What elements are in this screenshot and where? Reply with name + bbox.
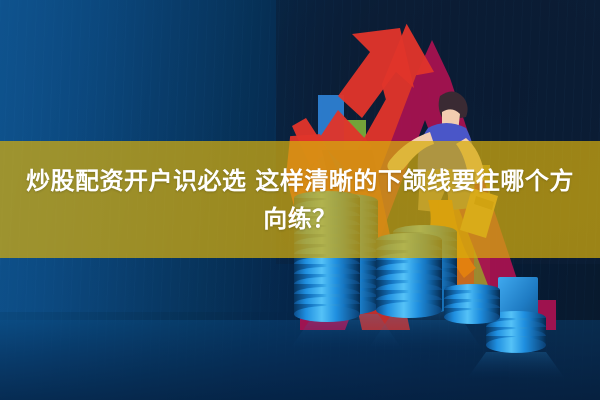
caption-line-1: 炒股配资开户识必选 这样清晰的下颌线要往哪个方 xyxy=(26,162,574,200)
banner-image: 炒股配资开户识必选 这样清晰的下颌线要往哪个方 向练？ xyxy=(0,0,600,400)
coin-stack-short xyxy=(444,284,500,324)
caption-line-2: 向练？ xyxy=(263,200,337,238)
caption-overlay-band: 炒股配资开户识必选 这样清晰的下颌线要往哪个方 向练？ xyxy=(0,141,600,258)
